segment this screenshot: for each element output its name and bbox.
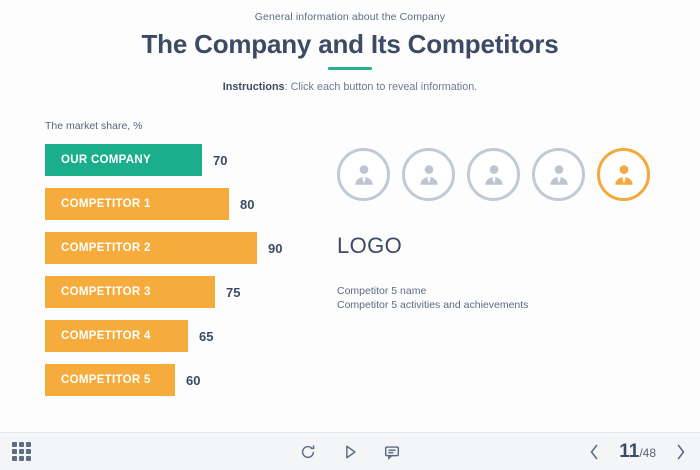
playback-controls xyxy=(299,443,401,461)
instructions-text: Click each button to reveal information. xyxy=(291,81,478,93)
bar-button-competitor-2[interactable]: COMPETITOR 2 xyxy=(45,232,257,264)
bar-button-competitor-3[interactable]: COMPETITOR 3 xyxy=(45,276,215,308)
restart-icon[interactable] xyxy=(299,443,317,461)
slide-header: General information about the Company Th… xyxy=(0,0,700,93)
page-navigation: 11/48 xyxy=(587,441,688,463)
grid-cell xyxy=(12,456,17,461)
grid-cell xyxy=(19,456,24,461)
chart-bar-row: COMPETITOR 5 60 xyxy=(45,364,345,396)
chart-bar-row: COMPETITOR 4 65 xyxy=(45,320,345,352)
avatar-competitor-2[interactable] xyxy=(402,148,455,201)
grid-menu-icon[interactable] xyxy=(12,442,31,461)
detail-info: Competitor 5 name Competitor 5 activitie… xyxy=(337,284,667,312)
grid-cell xyxy=(12,449,17,454)
bar-button-competitor-4[interactable]: COMPETITOR 4 xyxy=(45,320,188,352)
grid-cell xyxy=(26,456,31,461)
grid-cell xyxy=(19,442,24,447)
grid-cell xyxy=(12,442,17,447)
bar-button-competitor-1[interactable]: COMPETITOR 1 xyxy=(45,188,229,220)
instructions-label: Instructions xyxy=(223,81,285,93)
bar-value-competitor-3: 75 xyxy=(226,285,240,300)
person-icon xyxy=(351,162,377,188)
detail-name: Competitor 5 name xyxy=(337,284,667,298)
logo-placeholder: LOGO xyxy=(337,233,667,259)
chart-bar-row: COMPETITOR 1 80 xyxy=(45,188,345,220)
current-page: 11 xyxy=(619,441,639,463)
detail-pane: LOGO Competitor 5 name Competitor 5 acti… xyxy=(337,148,667,312)
chart-bar-row: OUR COMPANY 70 xyxy=(45,144,345,176)
play-icon[interactable] xyxy=(341,443,359,461)
instructions-line: Instructions: Click each button to revea… xyxy=(0,81,700,93)
bar-button-competitor-5[interactable]: COMPETITOR 5 xyxy=(45,364,175,396)
avatar-selector-row xyxy=(337,148,667,201)
person-icon xyxy=(416,162,442,188)
notes-icon[interactable] xyxy=(383,443,401,461)
person-icon xyxy=(481,162,507,188)
chart-bar-row: COMPETITOR 3 75 xyxy=(45,276,345,308)
person-icon xyxy=(546,162,572,188)
avatar-competitor-3[interactable] xyxy=(467,148,520,201)
avatar-competitor-1[interactable] xyxy=(337,148,390,201)
grid-cell xyxy=(26,449,31,454)
grid-cell xyxy=(19,449,24,454)
detail-description: Competitor 5 activities and achievements xyxy=(337,298,667,312)
eyebrow-text: General information about the Company xyxy=(0,11,700,23)
bar-value-competitor-2: 90 xyxy=(268,241,282,256)
bar-value-competitor-4: 65 xyxy=(199,329,213,344)
bar-button-our-company[interactable]: OUR COMPANY xyxy=(45,144,202,176)
title-underline xyxy=(328,67,372,70)
bar-value-competitor-1: 80 xyxy=(240,197,254,212)
person-icon xyxy=(611,162,637,188)
avatar-competitor-5[interactable] xyxy=(597,148,650,201)
page-counter: 11/48 xyxy=(619,441,656,463)
chevron-right-icon[interactable] xyxy=(674,442,688,462)
page-title: The Company and Its Competitors xyxy=(0,30,700,59)
chart-title: The market share, % xyxy=(45,120,345,132)
total-pages: /48 xyxy=(639,446,656,460)
bar-value-competitor-5: 60 xyxy=(186,373,200,388)
slide-canvas: General information about the Company Th… xyxy=(0,0,700,470)
player-toolbar: 11/48 xyxy=(0,432,700,470)
market-share-chart: The market share, % OUR COMPANY 70 COMPE… xyxy=(45,120,345,408)
chevron-left-icon[interactable] xyxy=(587,442,601,462)
chart-bar-row: COMPETITOR 2 90 xyxy=(45,232,345,264)
bar-value-our-company: 70 xyxy=(213,153,227,168)
avatar-competitor-4[interactable] xyxy=(532,148,585,201)
grid-cell xyxy=(26,442,31,447)
